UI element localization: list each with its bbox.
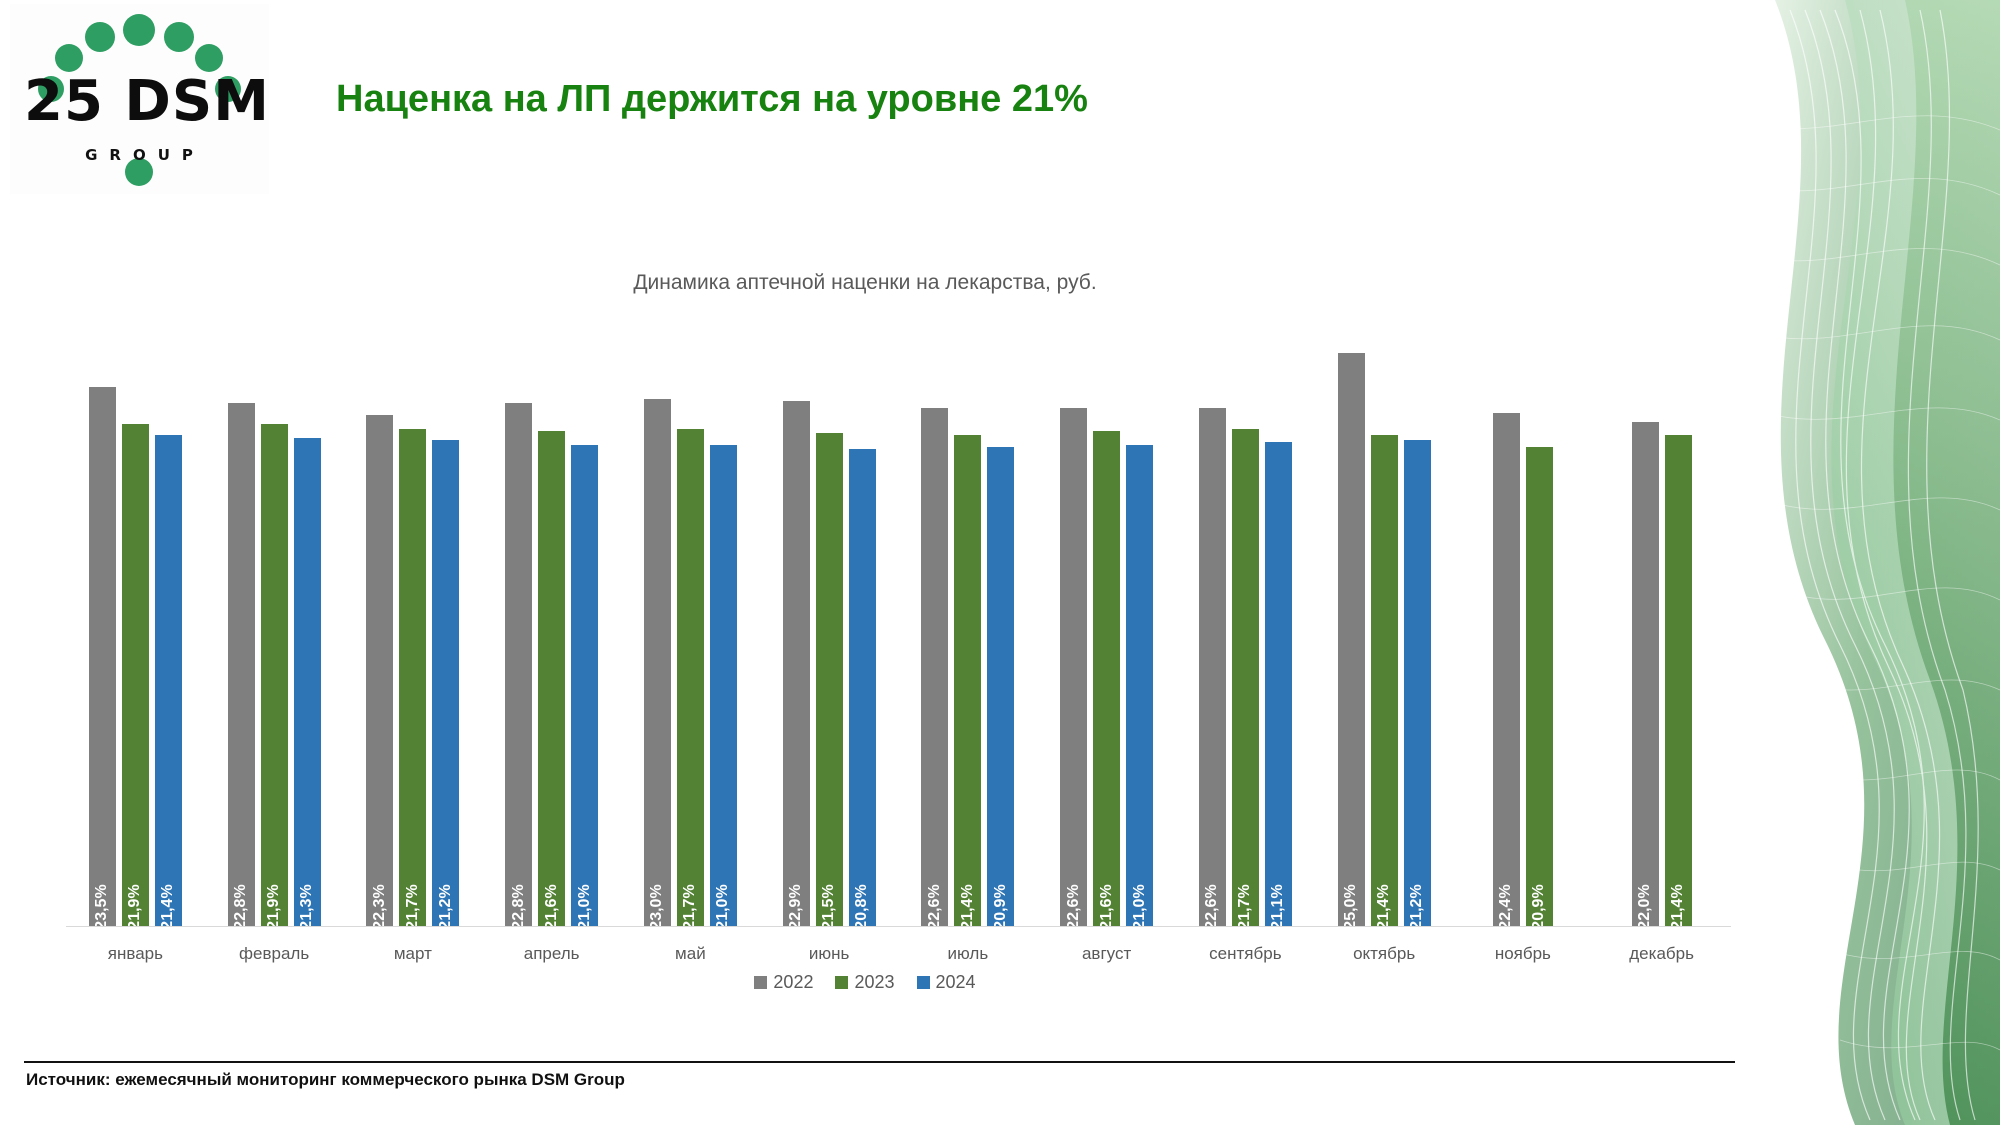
- bar-2024-февраль: 21,3%: [294, 438, 321, 926]
- bar-2024-январь: 21,4%: [155, 435, 182, 926]
- bar-value-label: 22,6%: [1203, 884, 1221, 929]
- bar-value-label: 21,5%: [820, 884, 838, 929]
- x-tick-июль: июль: [899, 944, 1038, 964]
- bar-2023-февраль: 21,9%: [261, 424, 288, 926]
- bar-value-label: 22,0%: [1636, 884, 1654, 929]
- chart-legend: 202220232024: [0, 972, 1730, 993]
- logo-subtext: GROUP: [70, 146, 220, 164]
- bar-2023-июнь: 21,5%: [816, 433, 843, 926]
- bar-group: 22,9%21,5%20,8%: [760, 330, 899, 926]
- swirl-graphic-icon: [1735, 0, 2000, 1125]
- bar-value-label: 21,0%: [714, 884, 732, 929]
- bar-value-label: 22,6%: [1065, 884, 1083, 929]
- bar-group: 23,0%21,7%21,0%: [621, 330, 760, 926]
- bar-value-label: 21,6%: [1098, 884, 1116, 929]
- legend-item-2023[interactable]: 2023: [835, 972, 894, 993]
- bar-group: 25,0%21,4%21,2%: [1315, 330, 1454, 926]
- footer-divider: [24, 1061, 1979, 1063]
- legend-label: 2022: [773, 972, 813, 993]
- decorative-green-swirl: [1735, 0, 2000, 1125]
- bar-2023-ноябрь: 20,9%: [1526, 447, 1553, 926]
- x-axis-tick-labels: январьфевральмартапрельмайиюньиюльавгуст…: [66, 934, 1731, 974]
- x-tick-октябрь: октябрь: [1315, 944, 1454, 964]
- bar-group: 22,8%21,9%21,3%: [205, 330, 344, 926]
- chart-title: Динамика аптечной наценки на лекарства, …: [0, 271, 1730, 295]
- bar-value-label: 21,3%: [298, 884, 316, 929]
- bar-2022-апрель: 22,8%: [505, 403, 532, 926]
- legend-item-2024[interactable]: 2024: [917, 972, 976, 993]
- bar-value-label: 21,4%: [1669, 884, 1687, 929]
- bar-chart-plot-area: 23,5%21,9%21,4%22,8%21,9%21,3%22,3%21,7%…: [66, 330, 1731, 926]
- bar-value-label: 21,6%: [543, 884, 561, 929]
- legend-swatch-icon: [917, 976, 930, 989]
- bar-value-label: 22,9%: [787, 884, 805, 929]
- bar-value-label: 21,7%: [681, 884, 699, 929]
- bar-2022-июль: 22,6%: [921, 408, 948, 926]
- bar-2023-октябрь: 21,4%: [1371, 435, 1398, 926]
- bar-2022-март: 22,3%: [366, 415, 393, 926]
- bar-value-label: 20,9%: [1530, 884, 1548, 929]
- bar-2023-июль: 21,4%: [954, 435, 981, 926]
- bar-group: 22,4%20,9%: [1454, 330, 1593, 926]
- bar-2023-август: 21,6%: [1093, 431, 1120, 926]
- bar-value-label: 25,0%: [1342, 884, 1360, 929]
- bar-2024-сентябрь: 21,1%: [1265, 442, 1292, 926]
- bar-value-label: 22,4%: [1497, 884, 1515, 929]
- bar-2024-август: 21,0%: [1126, 445, 1153, 926]
- bar-group: 22,3%21,7%21,2%: [344, 330, 483, 926]
- bar-value-label: 21,9%: [265, 884, 283, 929]
- bar-2022-февраль: 22,8%: [228, 403, 255, 926]
- bar-value-label: 21,4%: [959, 884, 977, 929]
- bar-value-label: 21,0%: [576, 884, 594, 929]
- bar-group: 23,5%21,9%21,4%: [66, 330, 205, 926]
- x-tick-декабрь: декабрь: [1592, 944, 1731, 964]
- x-tick-февраль: февраль: [205, 944, 344, 964]
- bar-value-label: 21,9%: [126, 884, 144, 929]
- bar-value-label: 21,7%: [404, 884, 422, 929]
- bar-value-label: 22,3%: [371, 884, 389, 929]
- bar-value-label: 20,8%: [853, 884, 871, 929]
- bar-2024-апрель: 21,0%: [571, 445, 598, 926]
- bar-2024-май: 21,0%: [710, 445, 737, 926]
- legend-swatch-icon: [835, 976, 848, 989]
- x-tick-май: май: [621, 944, 760, 964]
- x-tick-ноябрь: ноябрь: [1454, 944, 1593, 964]
- x-axis-line: [66, 926, 1731, 927]
- bar-2022-сентябрь: 22,6%: [1199, 408, 1226, 926]
- legend-item-2022[interactable]: 2022: [754, 972, 813, 993]
- bar-value-label: 21,4%: [159, 884, 177, 929]
- legend-label: 2024: [936, 972, 976, 993]
- bar-value-label: 21,1%: [1269, 884, 1287, 929]
- bar-2023-март: 21,7%: [399, 429, 426, 926]
- bar-2023-январь: 21,9%: [122, 424, 149, 926]
- bar-2023-май: 21,7%: [677, 429, 704, 926]
- bar-value-label: 21,2%: [1408, 884, 1426, 929]
- bar-value-label: 21,4%: [1375, 884, 1393, 929]
- dsm-group-logo: 25 DSM GROUP: [10, 4, 269, 194]
- legend-label: 2023: [854, 972, 894, 993]
- bar-2022-август: 22,6%: [1060, 408, 1087, 926]
- page-title: Наценка на ЛП держится на уровне 21%: [336, 78, 1088, 121]
- logo-wordmark: 25 DSM: [24, 74, 259, 130]
- bar-2024-июль: 20,9%: [987, 447, 1014, 926]
- bar-2023-апрель: 21,6%: [538, 431, 565, 926]
- bar-group: 22,6%21,6%21,0%: [1037, 330, 1176, 926]
- bar-value-label: 20,9%: [992, 884, 1010, 929]
- x-tick-август: август: [1037, 944, 1176, 964]
- bar-2022-май: 23,0%: [644, 399, 671, 926]
- bar-2022-октябрь: 25,0%: [1338, 353, 1365, 926]
- bar-2024-октябрь: 21,2%: [1404, 440, 1431, 926]
- bar-value-label: 21,7%: [1236, 884, 1254, 929]
- x-tick-июнь: июнь: [760, 944, 899, 964]
- bar-2022-ноябрь: 22,4%: [1493, 413, 1520, 926]
- bar-value-label: 22,6%: [926, 884, 944, 929]
- bar-2022-январь: 23,5%: [89, 387, 116, 926]
- bar-value-label: 21,2%: [437, 884, 455, 929]
- bar-2022-июнь: 22,9%: [783, 401, 810, 926]
- legend-swatch-icon: [754, 976, 767, 989]
- bar-value-label: 23,0%: [648, 884, 666, 929]
- bar-2024-март: 21,2%: [432, 440, 459, 926]
- x-tick-март: март: [344, 944, 483, 964]
- x-tick-январь: январь: [66, 944, 205, 964]
- x-tick-сентябрь: сентябрь: [1176, 944, 1315, 964]
- bar-group: 22,6%21,7%21,1%: [1176, 330, 1315, 926]
- bar-group: 22,6%21,4%20,9%: [899, 330, 1038, 926]
- bar-group: 22,0%21,4%: [1592, 330, 1731, 926]
- source-note: Источник: ежемесячный мониторинг коммерч…: [26, 1070, 625, 1090]
- bar-value-label: 22,8%: [232, 884, 250, 929]
- bar-2022-декабрь: 22,0%: [1632, 422, 1659, 926]
- bar-2024-июнь: 20,8%: [849, 449, 876, 926]
- bar-value-label: 22,8%: [510, 884, 528, 929]
- bar-group: 22,8%21,6%21,0%: [482, 330, 621, 926]
- bar-2023-декабрь: 21,4%: [1665, 435, 1692, 926]
- bar-value-label: 23,5%: [93, 884, 111, 929]
- bar-value-label: 21,0%: [1131, 884, 1149, 929]
- x-tick-апрель: апрель: [482, 944, 621, 964]
- bar-2023-сентябрь: 21,7%: [1232, 429, 1259, 926]
